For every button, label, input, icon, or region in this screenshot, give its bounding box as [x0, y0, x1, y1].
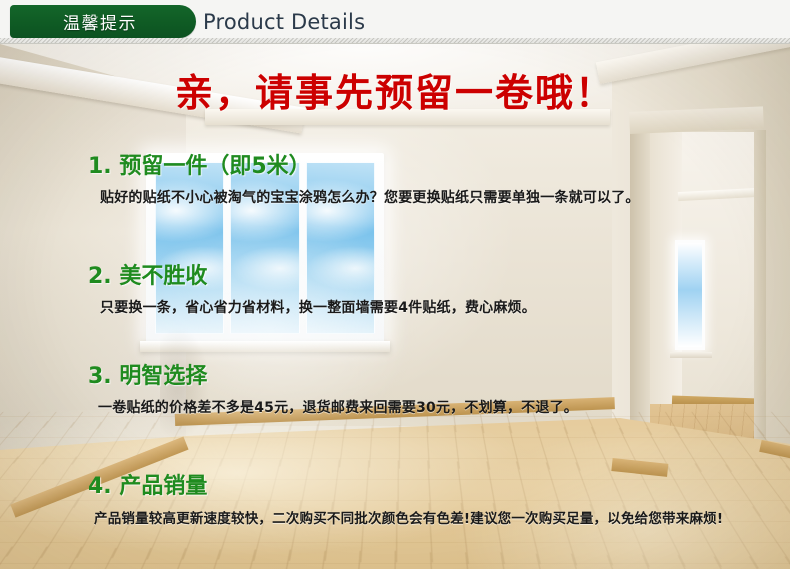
header-bar: 温馨提示 Product Details [0, 0, 790, 44]
item-3-heading: 3. 明智选择 [0, 358, 790, 390]
item-2-heading: 2. 美不胜收 [0, 258, 790, 290]
item-1-description: 贴好的贴纸不小心被淘气的宝宝涂鸦怎么办？您要更换贴纸只需要单独一条就可以了。 [0, 187, 790, 207]
item-2-description: 只要换一条，省心省力省材料，换一整面墙需要4件贴纸，费心麻烦。 [0, 297, 790, 317]
tab-warm-tips[interactable]: 温馨提示 [10, 5, 196, 38]
item-4-description: 产品销量较高更新速度较快，二次购买不同批次颜色会有色差!建议您一次购买足量，以免… [0, 507, 790, 527]
text-overlay: 亲，请事先预留一卷哦！ 1. 预留一件（即5米） 贴好的贴纸不小心被淘气的宝宝涂… [0, 44, 790, 569]
header-hatch-divider [0, 38, 790, 44]
list-item: 4. 产品销量 产品销量较高更新速度较快，二次购买不同批次颜色会有色差!建议您一… [0, 468, 790, 527]
product-details-banner: 温馨提示 Product Details [0, 0, 790, 569]
page-title: Product Details [203, 7, 365, 37]
promo-headline: 亲，请事先预留一卷哦！ [0, 62, 790, 117]
list-item: 1. 预留一件（即5米） 贴好的贴纸不小心被淘气的宝宝涂鸦怎么办？您要更换贴纸只… [0, 148, 790, 207]
item-3-description: 一卷贴纸的价格差不多是45元，退货邮费来回需要30元，不划算，不退了。 [0, 397, 790, 417]
list-item: 3. 明智选择 一卷贴纸的价格差不多是45元，退货邮费来回需要30元，不划算，不… [0, 358, 790, 417]
item-1-heading: 1. 预留一件（即5米） [0, 148, 790, 180]
tab-warm-tips-label: 温馨提示 [63, 9, 143, 34]
room-photo: 亲，请事先预留一卷哦！ 1. 预留一件（即5米） 贴好的贴纸不小心被淘气的宝宝涂… [0, 44, 790, 569]
item-4-heading: 4. 产品销量 [0, 468, 790, 500]
list-item: 2. 美不胜收 只要换一条，省心省力省材料，换一整面墙需要4件贴纸，费心麻烦。 [0, 258, 790, 317]
